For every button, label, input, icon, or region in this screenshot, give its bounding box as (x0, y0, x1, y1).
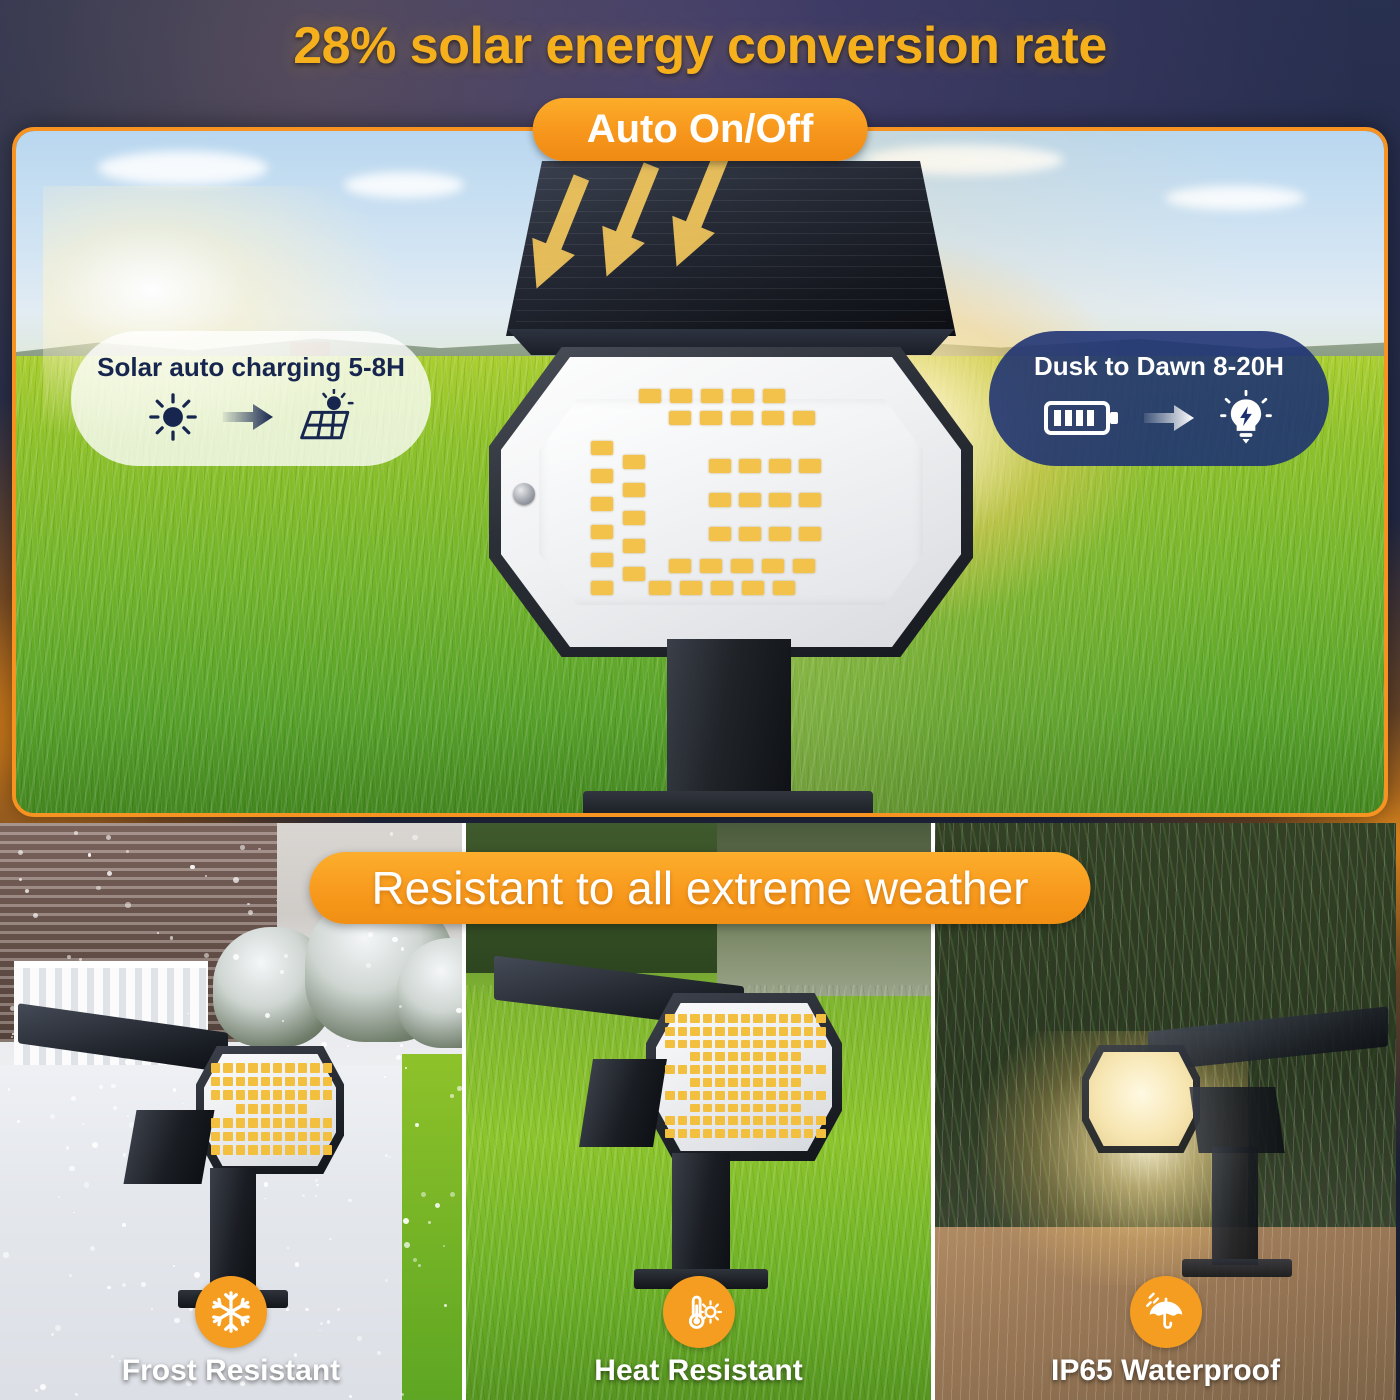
led-chip (261, 1104, 270, 1114)
led-chip (731, 411, 753, 425)
snowflake-particle (418, 1264, 421, 1267)
led-chip (753, 1065, 763, 1074)
led-chip (766, 1065, 776, 1074)
led-chip (665, 1116, 675, 1125)
led-chip (248, 1118, 257, 1128)
solar-spotlight-rain (1088, 1019, 1388, 1309)
led-array (664, 1013, 828, 1141)
led-chip (211, 1090, 220, 1100)
sun-icon (145, 389, 201, 445)
led-chip (728, 1104, 738, 1113)
led-chip (223, 1145, 232, 1155)
led-chip (728, 1078, 738, 1087)
led-chip (310, 1063, 319, 1073)
solar-charging-label: Solar auto charging 5-8H (97, 352, 405, 383)
light-neck (672, 1153, 730, 1277)
led-chip (779, 1052, 789, 1061)
led-chip (298, 1063, 307, 1073)
led-chip (669, 559, 691, 573)
led-chip (779, 1104, 789, 1113)
light-neck (667, 639, 791, 814)
led-chip (236, 1145, 245, 1155)
solar-panel-icon (297, 389, 357, 445)
led-chip (715, 1104, 725, 1113)
led-chip (703, 1104, 713, 1113)
snowflake-particle (3, 1252, 9, 1258)
led-chip (791, 1014, 801, 1023)
led-chip (700, 559, 722, 573)
led-chip (753, 1014, 763, 1023)
led-chip (741, 1104, 751, 1113)
led-chip (690, 1104, 700, 1113)
led-chip (678, 1065, 688, 1074)
led-chip (248, 1077, 257, 1087)
snowflake-particle (421, 1192, 426, 1197)
page-headline: 28% solar energy conversion rate (0, 16, 1400, 76)
snowflake-particle (170, 936, 173, 939)
led-chip (703, 1078, 713, 1087)
led-chip (670, 389, 692, 403)
snowflake-particle (280, 970, 284, 974)
led-chip (816, 1091, 826, 1100)
led-chip (769, 493, 791, 507)
snowflake-particle (415, 1123, 419, 1127)
light-arm (579, 1059, 667, 1147)
led-chip (261, 1077, 270, 1087)
heat-feature: Heat Resistant (466, 1276, 931, 1388)
led-chip (715, 1116, 725, 1125)
led-chip (791, 1078, 801, 1087)
led-chip (715, 1129, 725, 1138)
umbrella-rain-icon (1143, 1289, 1189, 1335)
led-chip (709, 493, 731, 507)
led-chip (261, 1145, 270, 1155)
led-chip (236, 1104, 245, 1114)
snowflake-particle (8, 1088, 11, 1091)
led-chip (779, 1091, 789, 1100)
led-chip (741, 1052, 751, 1061)
led-chip (779, 1078, 789, 1087)
led-chip (779, 1027, 789, 1036)
led-chip (323, 1090, 332, 1100)
led-chip (741, 1014, 751, 1023)
led-chip (665, 1091, 675, 1100)
led-chip (211, 1145, 220, 1155)
led-chip (766, 1014, 776, 1023)
led-chip (678, 1040, 688, 1049)
led-chip (741, 1091, 751, 1100)
led-chip (678, 1027, 688, 1036)
led-chip (769, 527, 791, 541)
led-chip (703, 1040, 713, 1049)
led-chip (709, 459, 731, 473)
snowflake-particle (12, 1033, 14, 1035)
led-chip (665, 1065, 675, 1074)
snowflake-particle (401, 1393, 404, 1396)
solar-charging-pill: Solar auto charging 5-8H (71, 331, 431, 466)
frost-label: Frost Resistant (122, 1354, 340, 1388)
led-chip (223, 1063, 232, 1073)
led-chip (248, 1104, 257, 1114)
led-chip (804, 1027, 814, 1036)
led-chip (690, 1052, 700, 1061)
snowflake-particle (450, 1094, 454, 1098)
led-chip (298, 1077, 307, 1087)
led-chip (703, 1091, 713, 1100)
led-chip (310, 1145, 319, 1155)
led-chip (741, 1027, 751, 1036)
led-chip (665, 1129, 675, 1138)
dusk-to-dawn-icons (1044, 390, 1274, 446)
led-chip (591, 581, 613, 595)
led-chip (791, 1116, 801, 1125)
arrow-right-icon (1144, 403, 1196, 433)
led-array (210, 1062, 334, 1158)
led-chip (753, 1116, 763, 1125)
led-chip (690, 1091, 700, 1100)
led-chip (791, 1040, 801, 1049)
led-chip (753, 1040, 763, 1049)
snowflake-particle (347, 1045, 349, 1047)
led-chip (791, 1091, 801, 1100)
light-face-lit (1089, 1052, 1193, 1146)
screw (513, 483, 535, 505)
led-chip (211, 1077, 220, 1087)
led-chip (273, 1118, 282, 1128)
snowflake-particle (258, 848, 261, 851)
led-chip (799, 527, 821, 541)
led-chip (715, 1040, 725, 1049)
led-chip (591, 553, 613, 567)
led-chip (766, 1052, 776, 1061)
led-chip (753, 1091, 763, 1100)
led-chip (766, 1104, 776, 1113)
led-chip (791, 1052, 801, 1061)
snowflake-particle (195, 999, 197, 1001)
led-chip (715, 1078, 725, 1087)
snowflake-particle (284, 954, 288, 958)
led-chip (298, 1104, 307, 1114)
led-chip (285, 1132, 294, 1142)
led-chip (665, 1027, 675, 1036)
led-chip (766, 1091, 776, 1100)
led-chip (285, 1104, 294, 1114)
led-chip (678, 1014, 688, 1023)
snowflake-particle (96, 886, 100, 890)
led-chip (766, 1116, 776, 1125)
led-chip (804, 1116, 814, 1125)
led-chip (728, 1052, 738, 1061)
led-chip (709, 527, 731, 541)
led-chip (285, 1118, 294, 1128)
frost-feature: Frost Resistant (0, 1276, 462, 1388)
snowflake-particle (125, 902, 130, 907)
led-chip (248, 1090, 257, 1100)
led-chip (623, 539, 645, 553)
led-chip (690, 1129, 700, 1138)
led-chip (678, 1091, 688, 1100)
led-chip (804, 1129, 814, 1138)
led-chip (669, 411, 691, 425)
snowflake-particle (349, 1395, 352, 1398)
thermometer-sun-icon (676, 1289, 722, 1335)
led-chip (285, 1063, 294, 1073)
cloud (344, 172, 464, 198)
waterproof-label: IP65 Waterproof (1051, 1354, 1280, 1388)
snowflake-particle (126, 850, 129, 853)
led-chip (741, 1116, 751, 1125)
led-chip (285, 1090, 294, 1100)
snowflake-icon (208, 1289, 254, 1335)
light-arm (1189, 1087, 1284, 1153)
led-chip (591, 525, 613, 539)
battery-full-icon (1044, 394, 1122, 442)
snowflake-particle (384, 1076, 386, 1078)
led-chip (323, 1145, 332, 1155)
led-chip (310, 1132, 319, 1142)
weather-banner: Resistant to all extreme weather (309, 852, 1090, 924)
led-chip (223, 1132, 232, 1142)
led-chip (766, 1129, 776, 1138)
led-chip (680, 581, 702, 595)
led-chip (261, 1063, 270, 1073)
led-chip (690, 1065, 700, 1074)
waterproof-badge (1130, 1276, 1202, 1348)
led-chip (804, 1014, 814, 1023)
led-chip (678, 1129, 688, 1138)
led-chip (779, 1065, 789, 1074)
led-chip (678, 1116, 688, 1125)
led-chip (591, 469, 613, 483)
cloud (1165, 186, 1305, 210)
led-chip (741, 1129, 751, 1138)
led-chip (703, 1052, 713, 1061)
led-chip (731, 559, 753, 573)
led-chip (762, 559, 784, 573)
solar-charging-icons (145, 389, 357, 445)
led-chip (701, 389, 723, 403)
lightbulb-bolt-icon (1218, 390, 1274, 446)
led-chip (742, 581, 764, 595)
led-chip (236, 1063, 245, 1073)
led-chip (236, 1090, 245, 1100)
arrow-right-icon (223, 402, 275, 432)
led-chip (273, 1090, 282, 1100)
led-chip (273, 1077, 282, 1087)
led-chip (715, 1027, 725, 1036)
led-chip (285, 1077, 294, 1087)
led-chip (816, 1116, 826, 1125)
led-chip (310, 1077, 319, 1087)
led-chip (779, 1040, 789, 1049)
led-chip (261, 1090, 270, 1100)
snowflake-particle (366, 963, 371, 968)
led-chip (690, 1116, 700, 1125)
stake-base (1182, 1259, 1292, 1277)
led-chip (753, 1129, 763, 1138)
led-chip (649, 581, 671, 595)
led-chip (623, 567, 645, 581)
led-chip (766, 1078, 776, 1087)
led-chip (732, 389, 754, 403)
snowflake-particle (400, 1044, 403, 1047)
led-chip (273, 1063, 282, 1073)
led-chip (703, 1014, 713, 1023)
snowflake-badge (195, 1276, 267, 1348)
led-chip (728, 1065, 738, 1074)
led-chip (769, 459, 791, 473)
led-chip (623, 455, 645, 469)
led-chip (753, 1027, 763, 1036)
snowflake-particle (204, 953, 209, 958)
led-chip (323, 1077, 332, 1087)
led-chip (248, 1145, 257, 1155)
led-chip (623, 483, 645, 497)
led-chip (223, 1077, 232, 1087)
led-chip (703, 1116, 713, 1125)
led-chip (236, 1132, 245, 1142)
snowflake-particle (392, 937, 397, 942)
snowflake-particle (88, 853, 91, 856)
led-chip (298, 1118, 307, 1128)
led-chip (793, 411, 815, 425)
led-chip (211, 1132, 220, 1142)
waterproof-feature: IP65 Waterproof (935, 1276, 1396, 1388)
led-chip (236, 1118, 245, 1128)
led-chip (741, 1040, 751, 1049)
led-chip (773, 581, 795, 595)
led-chip (248, 1132, 257, 1142)
led-chip (753, 1078, 763, 1087)
led-chip (639, 389, 661, 403)
snowflake-particle (404, 1242, 410, 1248)
led-chip (728, 1040, 738, 1049)
led-chip (211, 1063, 220, 1073)
led-chip (323, 1132, 332, 1142)
led-chip (703, 1065, 713, 1074)
led-chip (766, 1027, 776, 1036)
led-chip (804, 1065, 814, 1074)
led-chip (591, 441, 613, 455)
led-chip (715, 1052, 725, 1061)
led-chip (816, 1129, 826, 1138)
led-chip (711, 581, 733, 595)
led-chip (779, 1116, 789, 1125)
led-chip (728, 1091, 738, 1100)
led-chip (223, 1090, 232, 1100)
led-chip (285, 1145, 294, 1155)
led-chip (816, 1040, 826, 1049)
snowflake-particle (106, 835, 111, 840)
led-chip (804, 1040, 814, 1049)
snowflake-particle (178, 980, 180, 982)
led-chip (728, 1116, 738, 1125)
snowflake-particle (233, 877, 239, 883)
led-chip (739, 459, 761, 473)
snowflake-particle (11, 1036, 13, 1038)
snowflake-particle (396, 1055, 401, 1060)
led-chip (791, 1129, 801, 1138)
led-chip (690, 1014, 700, 1023)
led-chip (804, 1091, 814, 1100)
led-chip (273, 1145, 282, 1155)
snowflake-particle (248, 910, 253, 915)
light-neck (1212, 1147, 1258, 1265)
led-chip (261, 1118, 270, 1128)
led-chip (753, 1052, 763, 1061)
led-chip (739, 493, 761, 507)
led-chip (816, 1027, 826, 1036)
led-chip (261, 1132, 270, 1142)
led-chip (703, 1129, 713, 1138)
led-chip (690, 1078, 700, 1087)
heat-label: Heat Resistant (594, 1354, 802, 1388)
led-chip (703, 1027, 713, 1036)
led-chip (323, 1063, 332, 1073)
led-chip (766, 1040, 776, 1049)
light-arm (123, 1110, 214, 1184)
led-chip (665, 1014, 675, 1023)
led-chip (799, 459, 821, 473)
led-chip (298, 1132, 307, 1142)
snowflake-particle (240, 845, 245, 850)
led-chip (728, 1027, 738, 1036)
snowflake-particle (412, 835, 418, 841)
led-chip (779, 1129, 789, 1138)
snowflake-particle (35, 1389, 38, 1392)
led-chip (715, 1091, 725, 1100)
led-chip (623, 511, 645, 525)
auto-on-off-badge: Auto On/Off (533, 98, 868, 161)
led-chip (728, 1129, 738, 1138)
led-chip (591, 497, 613, 511)
snowflake-particle (456, 1008, 461, 1013)
led-chip (739, 527, 761, 541)
dusk-to-dawn-pill: Dusk to Dawn 8-20H (989, 331, 1329, 466)
led-chip (791, 1104, 801, 1113)
led-chip (791, 1027, 801, 1036)
led-chip (690, 1040, 700, 1049)
light-base (583, 791, 873, 817)
heat-badge (663, 1276, 735, 1348)
led-chip (762, 411, 784, 425)
led-chip (763, 389, 785, 403)
dusk-to-dawn-label: Dusk to Dawn 8-20H (1034, 351, 1284, 382)
led-chip (700, 411, 722, 425)
hero-panel: Solar auto charging 5-8H (12, 127, 1388, 817)
led-chip (816, 1014, 826, 1023)
led-chip (236, 1077, 245, 1087)
led-chip (298, 1090, 307, 1100)
led-chip (310, 1118, 319, 1128)
led-chip (728, 1014, 738, 1023)
led-chip (793, 559, 815, 573)
snowflake-particle (435, 1203, 440, 1208)
led-chip (298, 1145, 307, 1155)
led-chip (715, 1065, 725, 1074)
snowflake-particle (390, 832, 393, 835)
snowflake-particle (405, 1067, 407, 1069)
led-chip (690, 1027, 700, 1036)
led-chip (779, 1014, 789, 1023)
led-chip (211, 1118, 220, 1128)
led-chip (791, 1065, 801, 1074)
snowflake-particle (385, 1154, 388, 1157)
snowflake-particle (233, 954, 239, 960)
led-chip (715, 1014, 725, 1023)
led-chip (741, 1078, 751, 1087)
led-chip (248, 1063, 257, 1073)
